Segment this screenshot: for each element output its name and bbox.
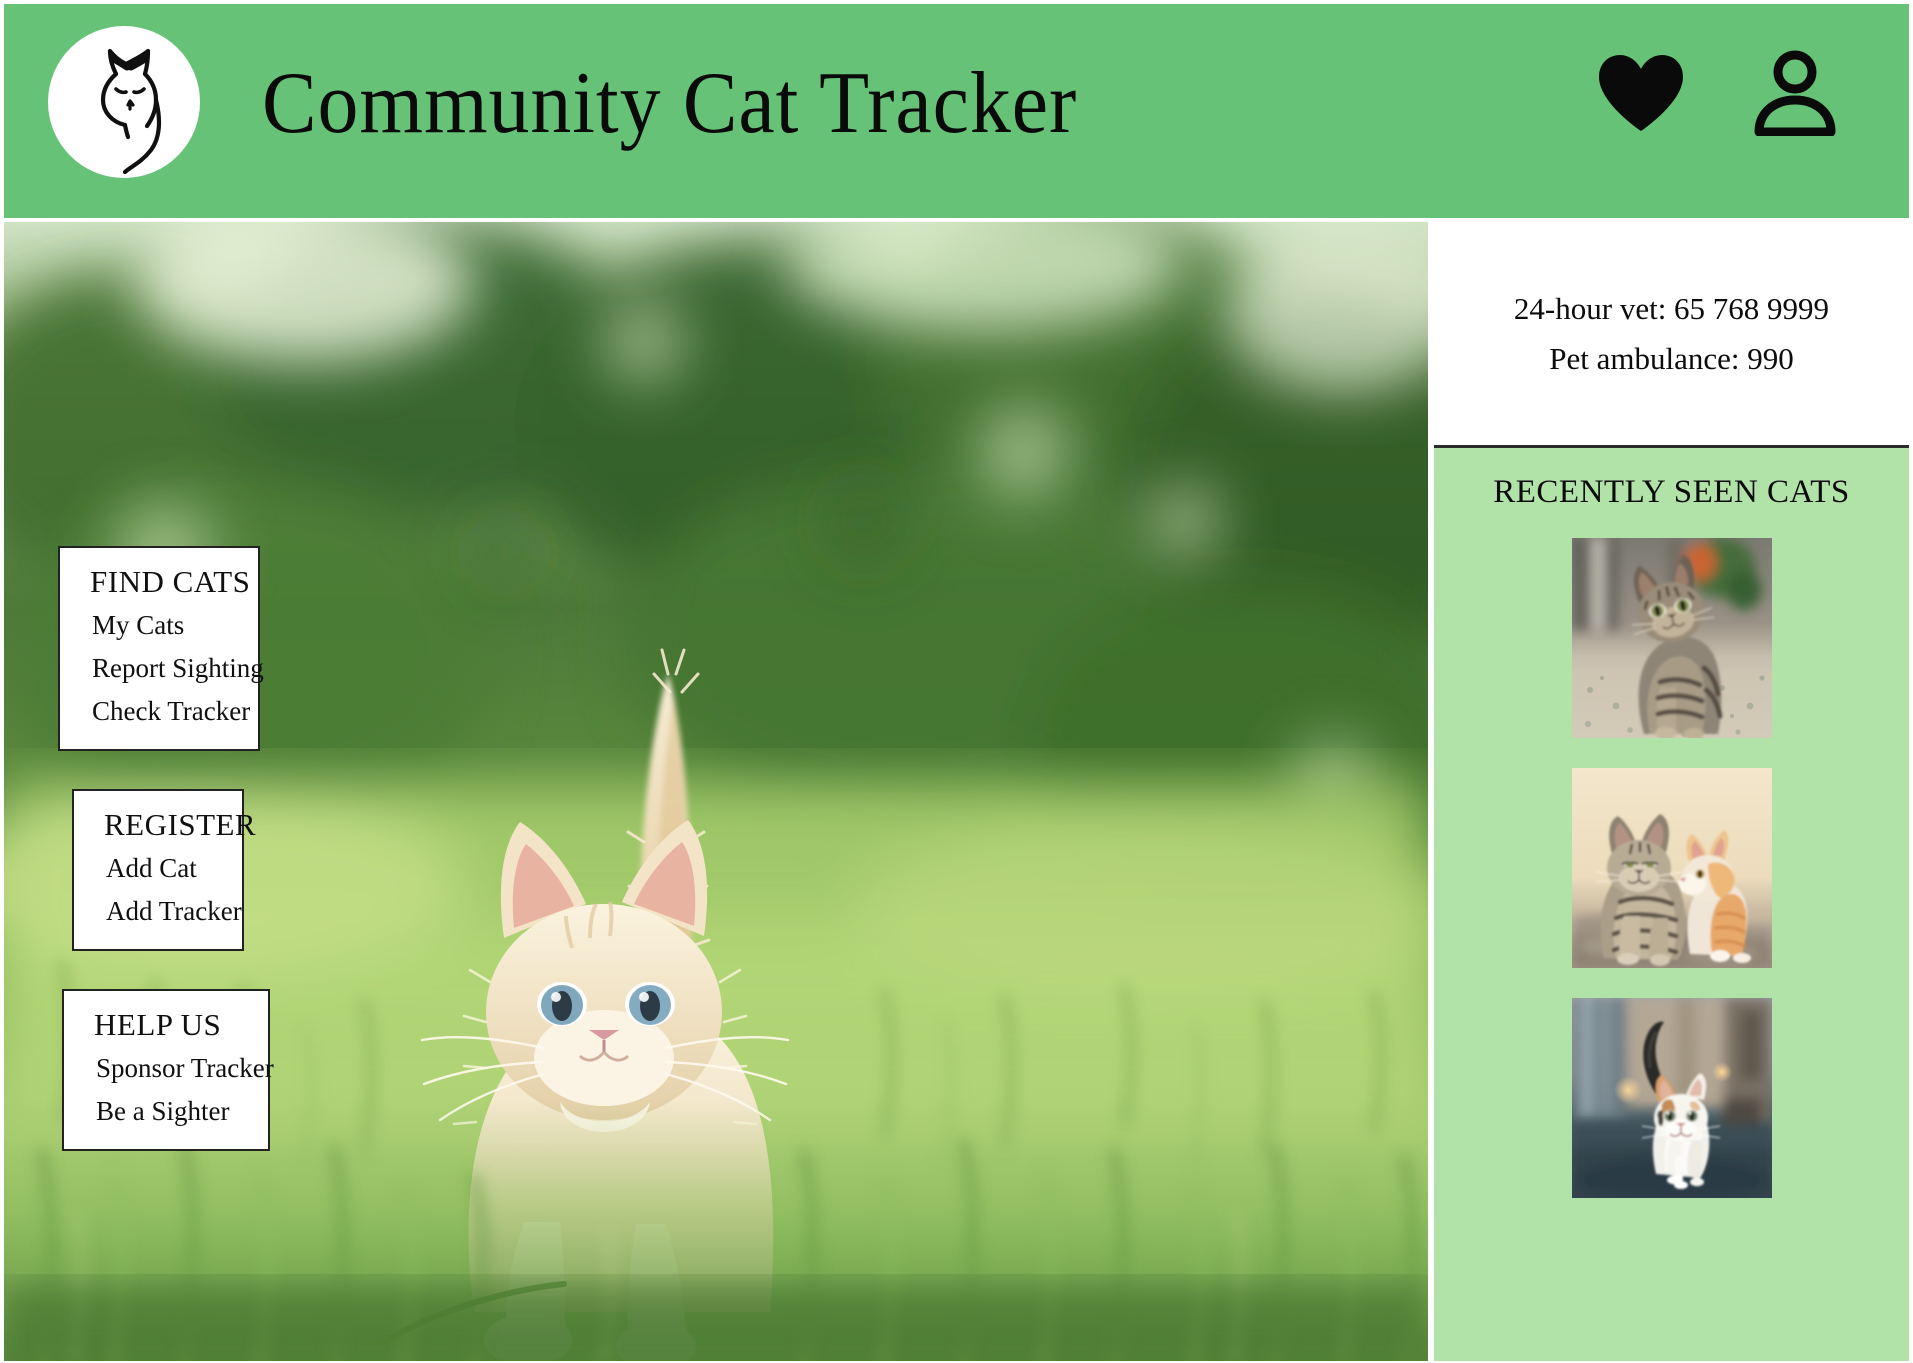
- right-sidebar: 24-hour vet: 65 768 9999 Pet ambulance: …: [1434, 222, 1909, 1361]
- nav-group-title: HELP US: [80, 1003, 240, 1047]
- main-navigation: FIND CATS My Cats Report Sighting Check …: [58, 546, 270, 1151]
- nav-group-register: REGISTER Add Cat Add Tracker: [72, 789, 244, 951]
- emergency-vet-line: 24-hour vet: 65 768 9999: [1514, 287, 1829, 331]
- nav-group-title: REGISTER: [90, 803, 214, 847]
- nav-group-find-cats: FIND CATS My Cats Report Sighting Check …: [58, 546, 260, 751]
- recent-cat-thumbnail[interactable]: [1572, 998, 1772, 1198]
- nav-link-report-sighting[interactable]: Report Sighting: [76, 647, 230, 690]
- emergency-ambulance-line: Pet ambulance: 990: [1549, 337, 1794, 381]
- nav-link-be-a-sighter[interactable]: Be a Sighter: [80, 1090, 240, 1133]
- emergency-contacts-panel: 24-hour vet: 65 768 9999 Pet ambulance: …: [1434, 222, 1909, 448]
- nav-group-title: FIND CATS: [76, 560, 230, 604]
- hero-photo: FIND CATS My Cats Report Sighting Check …: [4, 222, 1428, 1361]
- recent-cat-thumbnail[interactable]: [1572, 538, 1772, 738]
- page-root: Community Cat Tracker: [0, 0, 1913, 1363]
- two-cats-on-stone-image: [1572, 768, 1772, 968]
- nav-link-add-tracker[interactable]: Add Tracker: [90, 890, 214, 933]
- nav-link-add-cat[interactable]: Add Cat: [90, 847, 214, 890]
- white-cat-walking-street-image: [1572, 998, 1772, 1198]
- recently-seen-cats-list: [1434, 538, 1909, 1198]
- nav-link-sponsor-tracker[interactable]: Sponsor Tracker: [80, 1047, 240, 1090]
- nav-link-check-tracker[interactable]: Check Tracker: [76, 690, 230, 733]
- recently-seen-cats-title: RECENTLY SEEN CATS: [1434, 468, 1909, 516]
- heart-icon[interactable]: [1595, 53, 1687, 133]
- nav-group-help-us: HELP US Sponsor Tracker Be a Sighter: [62, 989, 270, 1151]
- site-logo[interactable]: [48, 26, 200, 178]
- recently-seen-cats-panel: RECENTLY SEEN CATS: [1434, 448, 1909, 1361]
- recent-cat-thumbnail[interactable]: [1572, 768, 1772, 968]
- tabby-kitten-sitting-image: [1572, 538, 1772, 738]
- cat-logo-icon: [48, 26, 200, 178]
- nav-link-my-cats[interactable]: My Cats: [76, 604, 230, 647]
- user-account-icon[interactable]: [1753, 50, 1837, 136]
- header-actions: [1595, 50, 1837, 136]
- page-title: Community Cat Tracker: [262, 48, 1077, 160]
- site-header: Community Cat Tracker: [4, 4, 1909, 218]
